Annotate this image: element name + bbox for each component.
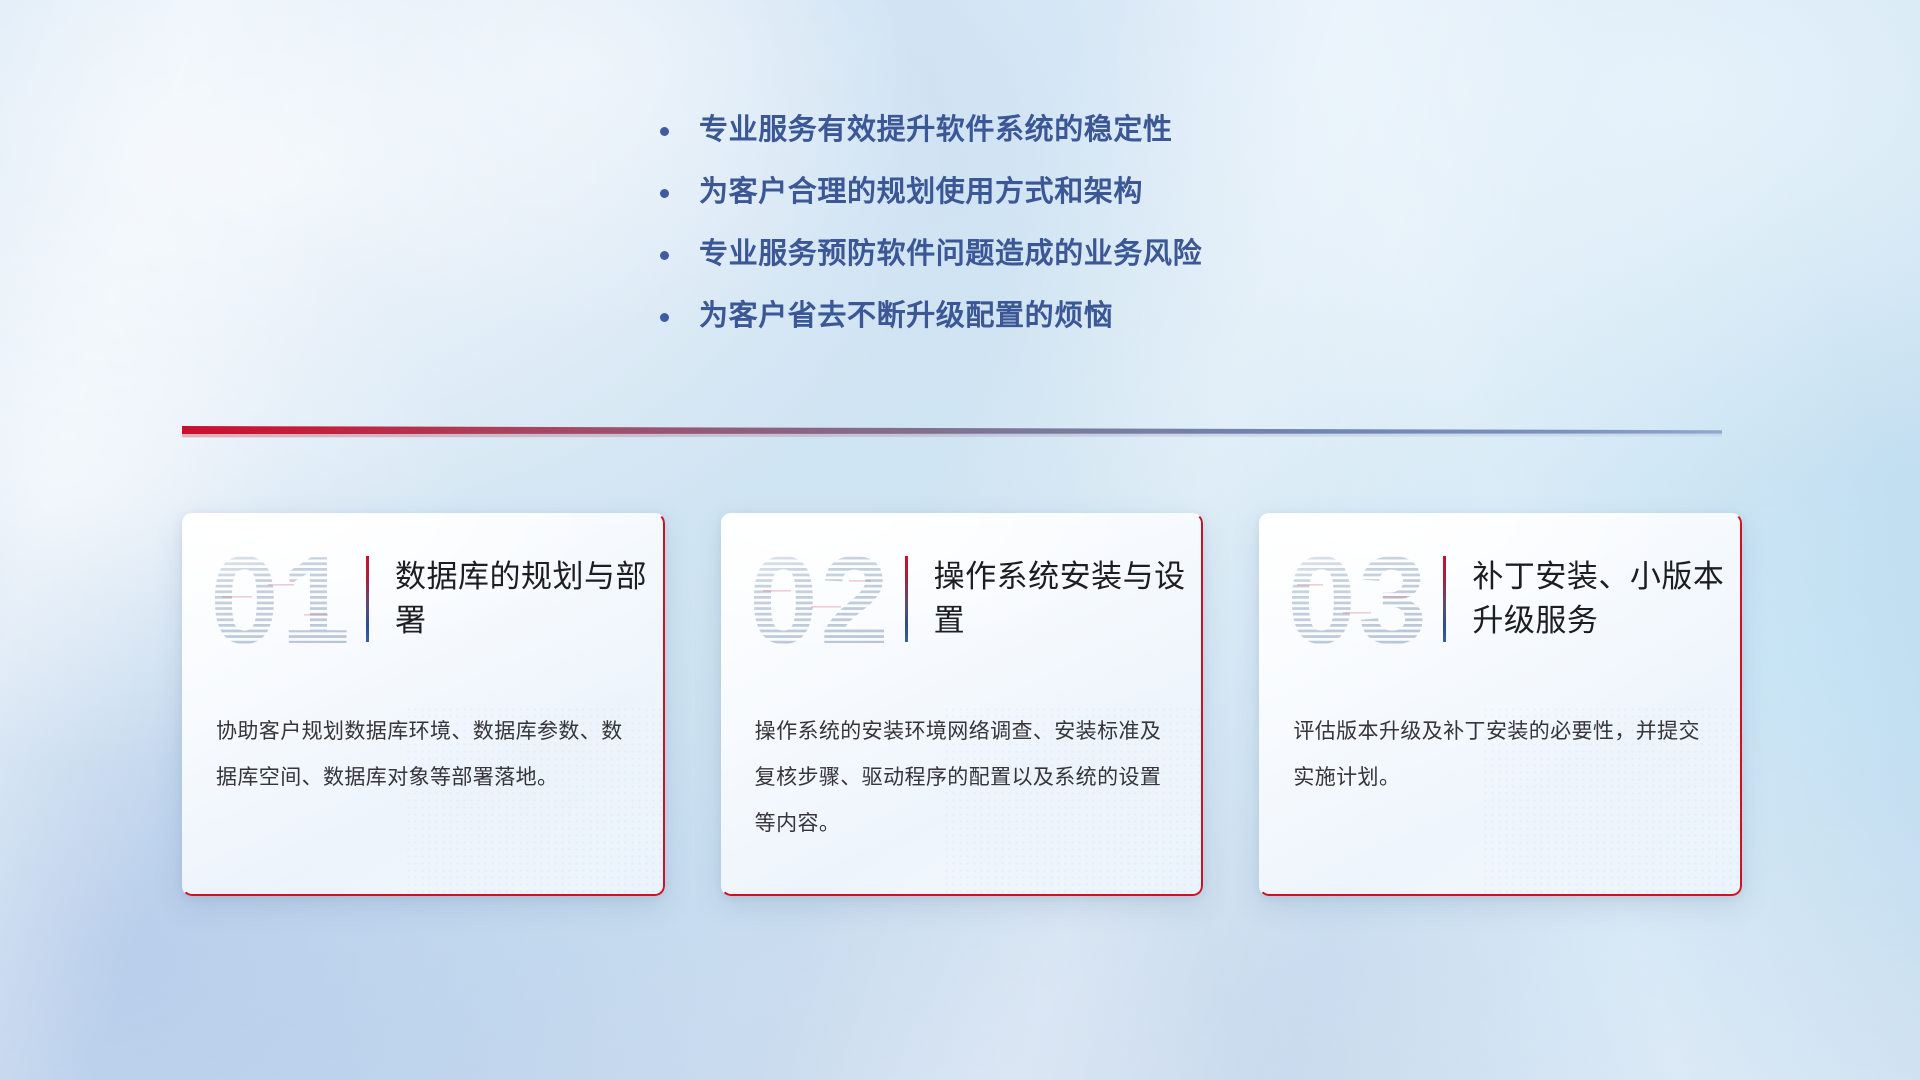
list-item: 为客户省去不断升级配置的烦恼 xyxy=(660,296,1420,336)
card-row: 01 数据库的规划与部署 协助客户规划数据库环境、数据库参数、数据库空间、数据库… xyxy=(182,513,1742,913)
bullet-text: 专业服务预防软件问题造成的业务风险 xyxy=(699,234,1202,274)
service-card[interactable]: 02 操作系统安装与设置 操作系统的安装环境网络调查、安装标准及复核步骤、驱动程… xyxy=(721,513,1204,896)
card-title: 补丁安装、小版本升级服务 xyxy=(1472,555,1742,643)
svg-text:01: 01 xyxy=(210,540,352,658)
service-card[interactable]: 01 数据库的规划与部署 协助客户规划数据库环境、数据库参数、数据库空间、数据库… xyxy=(182,513,665,896)
list-item: 专业服务预防软件问题造成的业务风险 xyxy=(660,234,1420,274)
card-header: 03 补丁安装、小版本升级服务 xyxy=(1259,535,1742,663)
section-divider xyxy=(182,424,1722,440)
card-accent-bar xyxy=(905,556,908,642)
card-title: 操作系统安装与设置 xyxy=(934,555,1204,643)
slide-canvas: 专业服务有效提升软件系统的稳定性 为客户合理的规划使用方式和架构 专业服务预防软… xyxy=(0,0,1920,1080)
card-title: 数据库的规划与部署 xyxy=(395,555,665,643)
list-item: 专业服务有效提升软件系统的稳定性 xyxy=(660,110,1420,150)
svg-text:02: 02 xyxy=(749,540,891,658)
card-accent-bar xyxy=(366,556,369,642)
list-item: 为客户合理的规划使用方式和架构 xyxy=(660,172,1420,212)
divider-shape-icon xyxy=(182,424,1722,440)
svg-text:03: 03 xyxy=(1287,540,1429,658)
bullet-text: 专业服务有效提升软件系统的稳定性 xyxy=(699,110,1173,150)
card-body-text: 评估版本升级及补丁安装的必要性，并提交实施计划。 xyxy=(1293,709,1712,801)
card-body-text: 协助客户规划数据库环境、数据库参数、数据库空间、数据库对象等部署落地。 xyxy=(216,709,635,801)
card-number-graphic: 03 xyxy=(1285,540,1443,658)
card-number-graphic: 01 xyxy=(208,540,366,658)
card-body-text: 操作系统的安装环境网络调查、安装标准及复核步骤、驱动程序的配置以及系统的设置等内… xyxy=(755,709,1174,847)
service-card[interactable]: 03 补丁安装、小版本升级服务 评估版本升级及补丁安装的必要性，并提交实施计划。 xyxy=(1259,513,1742,896)
striped-number-icon: 03 xyxy=(1285,540,1443,658)
bullet-text: 为客户合理的规划使用方式和架构 xyxy=(699,172,1143,212)
bullet-text: 为客户省去不断升级配置的烦恼 xyxy=(699,296,1113,336)
card-number-graphic: 02 xyxy=(747,540,905,658)
striped-number-icon: 01 xyxy=(208,540,366,658)
card-header: 02 操作系统安装与设置 xyxy=(721,535,1204,663)
bullet-dot-icon xyxy=(660,127,669,136)
bullet-dot-icon xyxy=(660,251,669,260)
bullet-dot-icon xyxy=(660,189,669,198)
bullet-dot-icon xyxy=(660,313,669,322)
card-accent-bar xyxy=(1443,556,1446,642)
bullet-list: 专业服务有效提升软件系统的稳定性 为客户合理的规划使用方式和架构 专业服务预防软… xyxy=(660,110,1420,358)
card-header: 01 数据库的规划与部署 xyxy=(182,535,665,663)
striped-number-icon: 02 xyxy=(747,540,905,658)
